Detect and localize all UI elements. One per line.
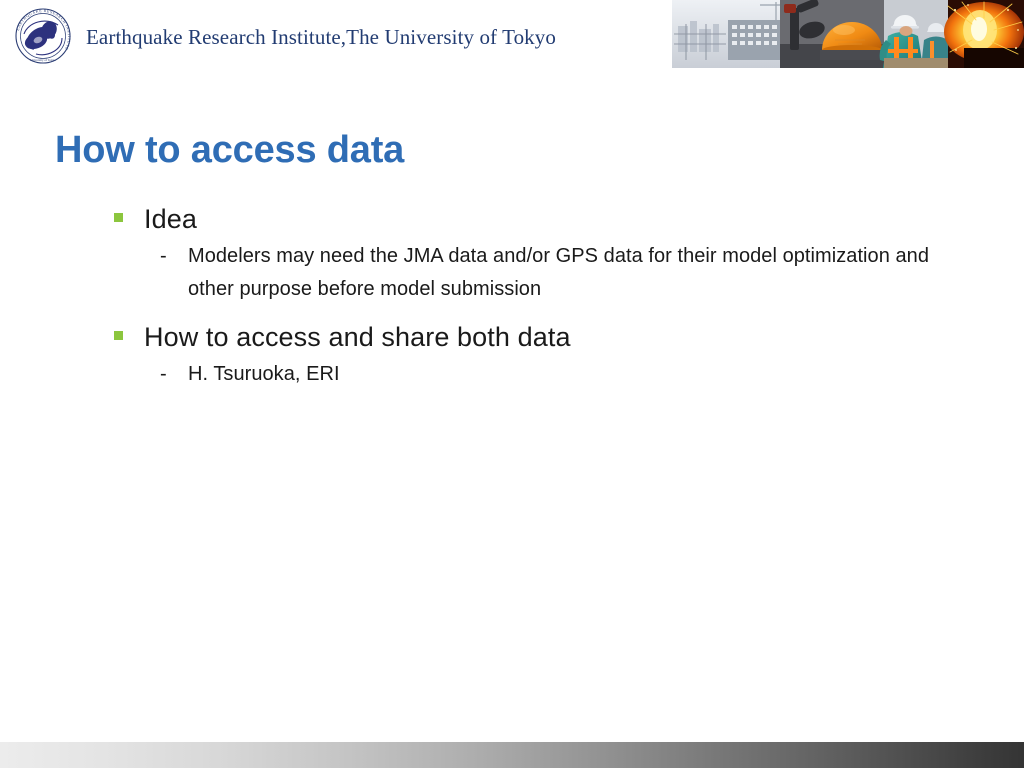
bullet-level2-text: H. Tsuruoka, ERI [188,358,948,391]
bullet-level1-how-to-access: How to access and share both data [0,318,1024,356]
svg-text:University of Tokyo: University of Tokyo [30,58,56,62]
bullet-level1-idea: Idea [0,200,1024,238]
bullet-level1-label: How to access and share both data [144,318,1024,356]
institute-name: Earthquake Research Institute,The Univer… [86,25,556,50]
slide-content: Idea - Modelers may need the JMA data an… [0,200,1024,391]
green-square-bullet-icon [114,213,123,222]
green-square-bullet-icon [114,331,123,340]
footer-gradient-bar [0,742,1024,768]
bullet-level1-label: Idea [144,200,1024,238]
slide-header: EARTHQUAKE RESEARCH INSTITUTE University… [0,0,1024,72]
bullet-level2-modelers: - Modelers may need the JMA data and/or … [0,240,1024,306]
dash-bullet-icon: - [160,358,167,391]
bullet-level2-author: - H. Tsuruoka, ERI [0,358,1024,391]
bullet-group-spacer [0,306,1024,318]
dash-bullet-icon: - [160,240,167,273]
research-photo-montage-banner [672,0,1024,68]
page-title: How to access data [55,129,404,172]
eri-circular-seal-icon: EARTHQUAKE RESEARCH INSTITUTE University… [8,4,78,68]
bullet-level2-text: Modelers may need the JMA data and/or GP… [188,240,948,306]
